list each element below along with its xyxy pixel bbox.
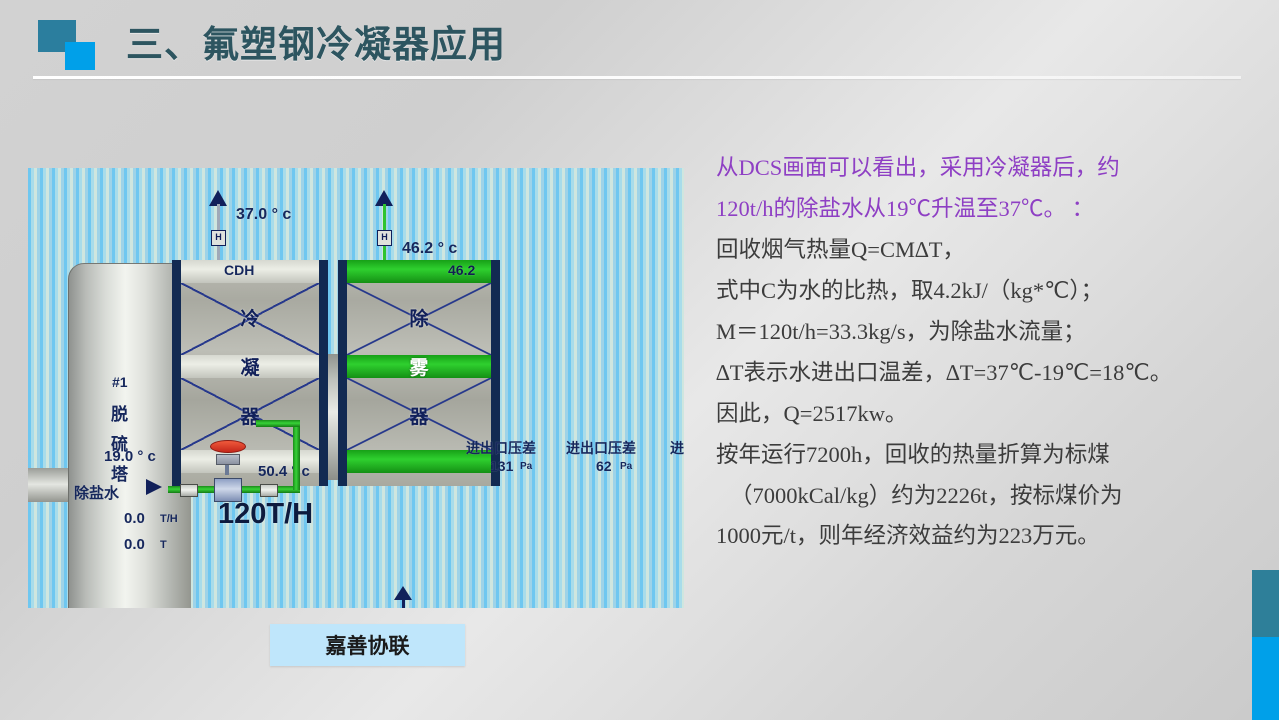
dp-value-2: 62 (596, 458, 612, 474)
condenser-label-char-2: 凝 (181, 353, 319, 380)
demister-outlet-gas-temp: 46.2 ° c (402, 240, 457, 258)
explanation-line: M＝120t/h=33.3kg/s，为除盐水流量； (716, 316, 1246, 348)
explanation-line: 按年运行7200h，回收的热量折算为标煤 (716, 439, 1246, 471)
water-flow-big-value: 120T/H (218, 498, 313, 531)
page-title: 三、氟塑钢冷凝器应用 (126, 14, 506, 68)
dcs-screenshot-image: #1 脱 硫 塔 冷 凝 器 CDH 50.4 ° c 除 雾 器 46.2 (28, 168, 684, 608)
explanation-line: 因此，Q=2517kw。 (716, 398, 1246, 430)
arrow-head-icon (394, 586, 412, 600)
dp-unit-2: Pa (620, 461, 632, 472)
slide-canvas: 三、氟塑钢冷凝器应用 #1 脱 硫 塔 冷 凝 器 CDH 50.4 ° c (0, 0, 1279, 720)
demin-water-pipe-top (256, 420, 300, 427)
flow-rate-value-1: 0.0 (124, 510, 145, 527)
explanation-line: 120t/h的除盐水从19℃升温至37℃。 ： (716, 193, 1246, 225)
water-flow-direction-arrow-icon (146, 479, 162, 495)
dp-label-2: 进出口压差 (566, 438, 636, 458)
dp-unit-1: Pa (520, 461, 532, 472)
demister-label-char-3: 器 (347, 402, 491, 429)
demister-inline-temp: 46.2 (448, 262, 475, 278)
tower-label-id: #1 (112, 374, 128, 390)
explanation-line: ∆T表示水进出口温差，∆T=37℃-19℃=18℃。 (716, 357, 1246, 389)
edge-accent-bar-teal (1252, 570, 1279, 637)
pipe-fitting-1 (180, 484, 198, 497)
condenser-unit: 冷 凝 器 (172, 260, 328, 486)
control-valve-yoke (216, 454, 240, 465)
flow-rate-unit-2: T (160, 539, 167, 551)
explanation-line: 1000元/t，则年经济效益约为223万元。 (716, 520, 1246, 552)
dp-value-1: 131 (490, 458, 513, 474)
dp-label-3-truncated: 进 (670, 438, 684, 458)
demister-label-char-2: 雾 (347, 353, 491, 380)
title-divider (33, 76, 1241, 79)
condenser-outlet-gas-temp: 37.0 ° c (236, 206, 291, 224)
explanation-text-block: 从DCS画面可以看出，采用冷凝器后，约120t/h的除盐水从19℃升温至37℃。… (716, 152, 1246, 561)
bottom-gas-arrow-icon (401, 586, 406, 608)
decor-square-bright-icon (65, 42, 95, 70)
tower-side-nozzle (28, 468, 70, 502)
condenser-outlet-temp: 50.4 ° c (258, 463, 310, 480)
explanation-line: 从DCS画面可以看出，采用冷凝器后，约 (716, 152, 1246, 184)
demister-gas-outlet-arrow-icon: H (382, 190, 387, 260)
explanation-line: （7000kCal/kg）约为2226t，按标煤价为 (716, 480, 1246, 512)
explanation-line: 式中C为水的比热，取4.2kJ/（kg*℃）； (716, 275, 1246, 307)
arrow-shaft (402, 600, 405, 608)
hand-indicator-tag-2: H (377, 230, 392, 246)
demin-water-pipe-riser (293, 420, 300, 490)
dp-label-1: 进出口压差 (466, 438, 536, 458)
demin-water-label: 除盐水 (74, 482, 119, 503)
condenser-cdh-tag: CDH (224, 262, 254, 278)
pipe-fitting-2 (260, 484, 278, 497)
flow-rate-unit-1: T/H (160, 513, 178, 525)
image-caption-badge: 嘉善协联 (270, 624, 465, 666)
explanation-line: 回收烟气热量Q=CM∆T， (716, 234, 1246, 266)
demister-label-char-1: 除 (347, 304, 491, 331)
condenser-label-char-1: 冷 (181, 304, 319, 331)
edge-accent-bar-blue (1252, 637, 1279, 720)
tower-label-char-1: 脱 (111, 400, 128, 425)
hand-indicator-tag-1: H (211, 230, 226, 246)
water-inlet-temp: 19.0 ° c (104, 448, 156, 465)
flow-rate-value-2: 0.0 (124, 536, 145, 553)
condenser-gas-outlet-arrow-icon: H (216, 190, 221, 260)
control-valve-actuator-icon (210, 440, 246, 453)
